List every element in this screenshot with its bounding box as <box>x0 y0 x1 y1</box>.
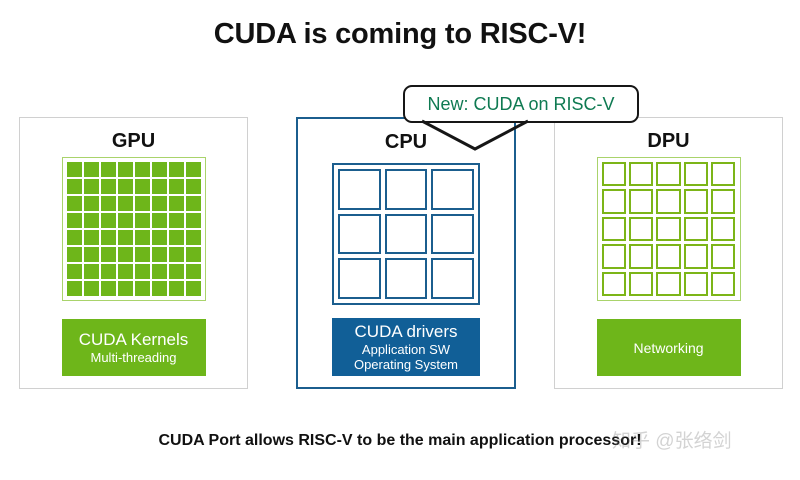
dpu-core-cell <box>656 244 680 268</box>
gpu-core-cell <box>101 179 116 194</box>
gpu-core-cell <box>84 213 99 228</box>
dpu-core-cell <box>602 217 626 241</box>
gpu-core-cell <box>169 281 184 296</box>
gpu-block-main-label: CUDA Kernels <box>79 330 189 350</box>
gpu-core-cell <box>84 264 99 279</box>
gpu-core-cell <box>152 213 167 228</box>
cpu-core-cell <box>431 258 474 299</box>
gpu-core-cell <box>67 162 82 177</box>
dpu-core-cell <box>629 244 653 268</box>
gpu-core-cell <box>118 247 133 262</box>
dpu-core-cell <box>684 244 708 268</box>
slide-canvas: CUDA is coming to RISC-V! GPU CUDA Kerne… <box>0 0 800 480</box>
callout-bubble[interactable]: New: CUDA on RISC-V <box>403 85 639 123</box>
dpu-core-cell <box>656 217 680 241</box>
dpu-core-cell <box>629 189 653 213</box>
gpu-core-cell <box>186 196 201 211</box>
cpu-block-main-label: CUDA drivers <box>355 322 458 342</box>
gpu-core-cell <box>101 162 116 177</box>
gpu-core-cell <box>84 230 99 245</box>
gpu-core-cell <box>169 162 184 177</box>
dpu-core-cell <box>656 272 680 296</box>
gpu-core-cell <box>186 247 201 262</box>
caption-text: CUDA Port allows RISC-V to be the main a… <box>0 432 800 450</box>
dpu-core-cell <box>629 162 653 186</box>
gpu-core-cell <box>84 281 99 296</box>
dpu-core-cell <box>629 217 653 241</box>
cpu-core-cell <box>338 258 381 299</box>
page-title: CUDA is coming to RISC-V! <box>0 18 800 51</box>
dpu-core-cell <box>656 189 680 213</box>
cpu-core-cell <box>431 169 474 210</box>
dpu-core-cell <box>684 217 708 241</box>
cpu-core-cell <box>431 214 474 255</box>
gpu-core-cell <box>186 264 201 279</box>
gpu-block-sub-label: Multi-threading <box>91 350 177 365</box>
gpu-core-cell <box>101 213 116 228</box>
gpu-core-cell <box>135 196 150 211</box>
gpu-core-cell <box>152 196 167 211</box>
panel-dpu[interactable]: DPU Networking <box>554 117 783 389</box>
callout-pointer-icon <box>420 119 530 155</box>
gpu-core-cell <box>118 230 133 245</box>
panel-gpu[interactable]: GPU CUDA Kernels Multi-threading <box>19 117 248 389</box>
gpu-core-cell <box>84 179 99 194</box>
gpu-core-cell <box>186 162 201 177</box>
gpu-core-grid <box>62 157 206 301</box>
gpu-core-cell <box>152 230 167 245</box>
gpu-core-cell <box>67 213 82 228</box>
gpu-core-cell <box>186 213 201 228</box>
callout-label: New: CUDA on RISC-V <box>427 94 614 115</box>
gpu-software-block: CUDA Kernels Multi-threading <box>62 319 206 376</box>
gpu-core-cell <box>169 230 184 245</box>
dpu-core-cell <box>711 272 735 296</box>
gpu-core-cell <box>67 264 82 279</box>
gpu-core-cell <box>152 247 167 262</box>
dpu-core-cell <box>602 162 626 186</box>
gpu-core-cell <box>84 196 99 211</box>
gpu-core-cell <box>67 247 82 262</box>
panel-cpu[interactable]: CPU CUDA drivers Application SW Operatin… <box>296 117 516 389</box>
dpu-core-cell <box>711 189 735 213</box>
gpu-core-cell <box>118 196 133 211</box>
gpu-core-cell <box>118 281 133 296</box>
gpu-core-cell <box>118 264 133 279</box>
dpu-core-cell <box>602 272 626 296</box>
gpu-core-cell <box>152 264 167 279</box>
dpu-core-grid <box>597 157 741 301</box>
gpu-core-cell <box>152 162 167 177</box>
gpu-core-cell <box>169 247 184 262</box>
gpu-core-cell <box>186 179 201 194</box>
gpu-core-cell <box>135 247 150 262</box>
gpu-core-cell <box>135 213 150 228</box>
gpu-core-cell <box>101 230 116 245</box>
gpu-core-cell <box>118 213 133 228</box>
gpu-core-cell <box>169 196 184 211</box>
dpu-core-cell <box>684 162 708 186</box>
gpu-core-cell <box>152 179 167 194</box>
gpu-core-cell <box>84 247 99 262</box>
panel-dpu-title: DPU <box>555 130 782 153</box>
cpu-core-grid <box>332 163 480 305</box>
gpu-core-cell <box>67 230 82 245</box>
gpu-core-cell <box>135 264 150 279</box>
cpu-core-cell <box>385 169 428 210</box>
gpu-core-cell <box>152 281 167 296</box>
gpu-core-cell <box>169 213 184 228</box>
dpu-core-cell <box>629 272 653 296</box>
dpu-block-main-label: Networking <box>633 338 703 358</box>
dpu-core-cell <box>602 189 626 213</box>
dpu-core-cell <box>711 217 735 241</box>
gpu-core-cell <box>118 179 133 194</box>
dpu-core-cell <box>711 162 735 186</box>
gpu-core-cell <box>169 264 184 279</box>
dpu-software-block: Networking <box>597 319 741 376</box>
gpu-core-cell <box>135 162 150 177</box>
dpu-core-cell <box>656 162 680 186</box>
dpu-core-cell <box>602 244 626 268</box>
gpu-core-cell <box>135 230 150 245</box>
gpu-core-cell <box>67 179 82 194</box>
cpu-software-block: CUDA drivers Application SW Operating Sy… <box>332 318 480 376</box>
dpu-core-cell <box>684 272 708 296</box>
cpu-block-sub-label: Application SW <box>362 342 450 357</box>
gpu-core-cell <box>67 196 82 211</box>
cpu-block-sub2-label: Operating System <box>354 357 458 372</box>
cpu-core-cell <box>338 214 381 255</box>
panel-gpu-title: GPU <box>20 130 247 153</box>
gpu-core-cell <box>84 162 99 177</box>
gpu-core-cell <box>135 281 150 296</box>
gpu-core-cell <box>101 247 116 262</box>
cpu-core-cell <box>385 258 428 299</box>
cpu-core-cell <box>385 214 428 255</box>
gpu-core-cell <box>101 196 116 211</box>
dpu-core-cell <box>684 189 708 213</box>
gpu-core-cell <box>67 281 82 296</box>
gpu-core-cell <box>101 264 116 279</box>
gpu-core-cell <box>118 162 133 177</box>
gpu-core-cell <box>135 179 150 194</box>
dpu-core-cell <box>711 244 735 268</box>
gpu-core-cell <box>186 230 201 245</box>
gpu-core-cell <box>186 281 201 296</box>
gpu-core-cell <box>169 179 184 194</box>
gpu-core-cell <box>101 281 116 296</box>
cpu-core-cell <box>338 169 381 210</box>
